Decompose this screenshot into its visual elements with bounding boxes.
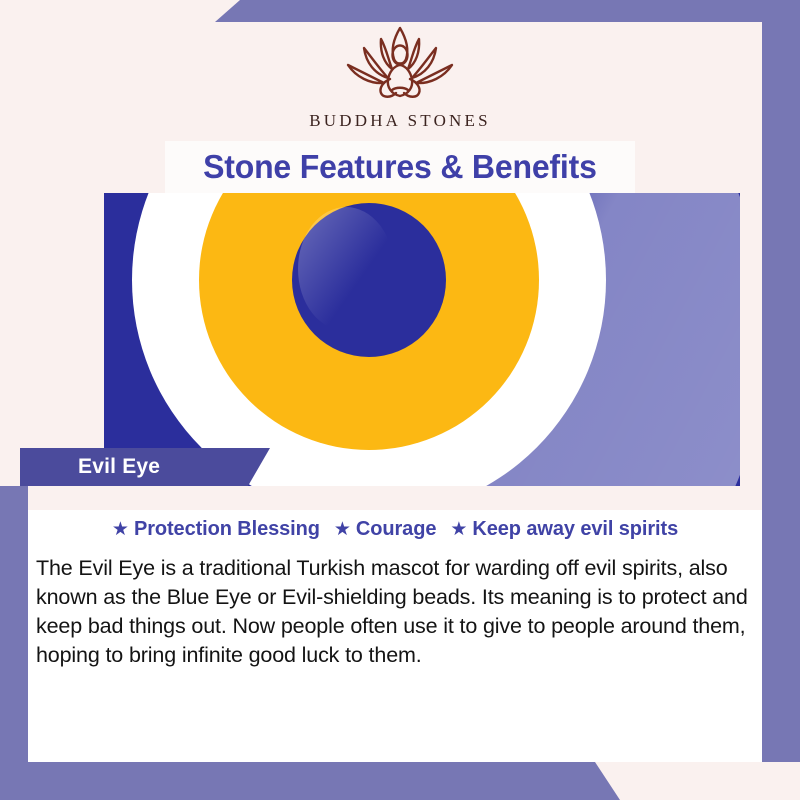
brand-logo: BUDDHA STONES bbox=[0, 22, 800, 142]
benefit-label: Courage bbox=[356, 518, 436, 541]
hero-image bbox=[104, 193, 740, 486]
bead-pupil-highlight bbox=[298, 207, 394, 331]
benefit-item: ★ Protection Blessing bbox=[112, 518, 320, 541]
content-panel: ★ Protection Blessing ★ Courage ★ Keep a… bbox=[28, 496, 762, 762]
star-icon: ★ bbox=[334, 520, 351, 539]
star-icon: ★ bbox=[112, 520, 129, 539]
benefit-item: ★ Keep away evil spirits bbox=[450, 518, 678, 541]
benefits-row: ★ Protection Blessing ★ Courage ★ Keep a… bbox=[28, 518, 762, 541]
frame-band-bottom bbox=[0, 762, 620, 800]
frame-band-top bbox=[215, 0, 800, 22]
description-text: The Evil Eye is a traditional Turkish ma… bbox=[36, 554, 756, 670]
page-title: Stone Features & Benefits bbox=[203, 148, 597, 186]
evil-eye-bead-graphic bbox=[104, 193, 740, 486]
page-title-box: Stone Features & Benefits bbox=[165, 141, 635, 193]
infographic-page: BUDDHA STONES Stone Features & Benefits … bbox=[0, 0, 800, 800]
stone-name-label: Evil Eye bbox=[78, 455, 160, 479]
benefit-label: Keep away evil spirits bbox=[472, 518, 678, 541]
stone-name-tag: Evil Eye bbox=[20, 448, 270, 486]
lotus-meditation-icon bbox=[334, 22, 466, 108]
frame-band-left bbox=[0, 486, 28, 800]
benefit-label: Protection Blessing bbox=[134, 518, 320, 541]
panel-top-tint bbox=[28, 496, 762, 510]
star-icon: ★ bbox=[450, 520, 467, 539]
benefit-item: ★ Courage bbox=[334, 518, 436, 541]
brand-name: BUDDHA STONES bbox=[309, 111, 491, 131]
